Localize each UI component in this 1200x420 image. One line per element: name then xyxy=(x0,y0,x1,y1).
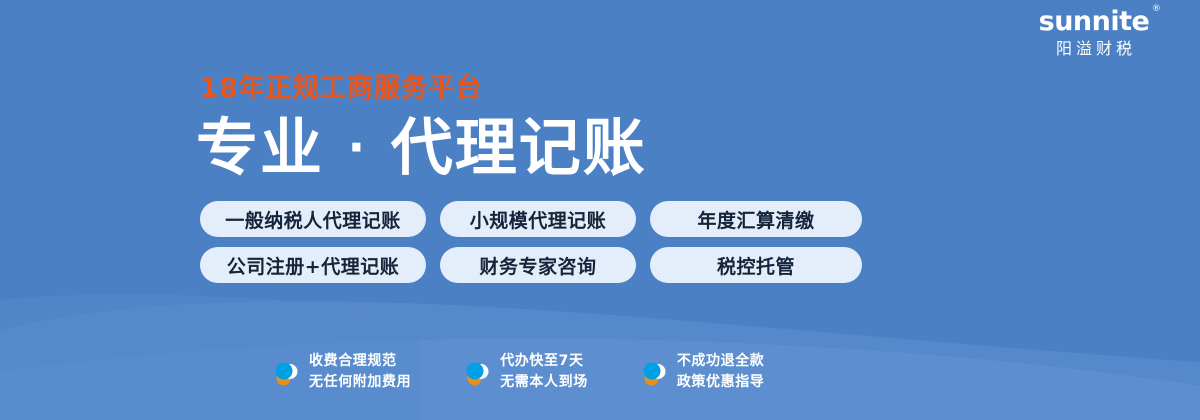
headline-prefix: 专业 xyxy=(196,111,324,184)
page-title: 专业 · 代理记账 xyxy=(196,112,647,183)
headline-suffix: 代理记账 xyxy=(391,111,647,184)
service-pill-small-scale-bookkeeping[interactable]: 小规模代理记账 xyxy=(440,201,636,237)
feature-item-pricing: 收费合理规范 无任何附加费用 xyxy=(272,351,411,393)
feature-text-guarantee: 不成功退全款 政策优惠指导 xyxy=(677,351,765,393)
moon-circle-icon xyxy=(640,357,668,387)
service-pill-row-1: 一般纳税人代理记账 小规模代理记账 年度汇算清缴 xyxy=(200,201,862,237)
feature-line-2: 无需本人到场 xyxy=(500,372,588,393)
feature-line-2: 政策优惠指导 xyxy=(677,372,765,393)
feature-line-2: 无任何附加费用 xyxy=(309,372,411,393)
hero-tagline: 18年正规工商服务平台 xyxy=(200,73,483,105)
service-pill-finance-expert-consulting[interactable]: 财务专家咨询 xyxy=(440,247,636,283)
service-pill-row-2: 公司注册+代理记账 财务专家咨询 税控托管 xyxy=(200,247,862,283)
logo-brand-text: sunnite xyxy=(1039,6,1150,37)
service-pill-annual-tax-settlement[interactable]: 年度汇算清缴 xyxy=(650,201,862,237)
headline-separator: · xyxy=(348,120,367,174)
feature-text-pricing: 收费合理规范 无任何附加费用 xyxy=(309,351,411,393)
service-pill-company-registration-bookkeeping[interactable]: 公司注册+代理记账 xyxy=(200,247,426,283)
feature-line-1: 不成功退全款 xyxy=(677,351,765,372)
registered-trademark-icon: ® xyxy=(1152,5,1161,14)
moon-circle-icon xyxy=(463,357,491,387)
moon-circle-icon xyxy=(272,357,300,387)
service-pill-tax-control-hosting[interactable]: 税控托管 xyxy=(650,247,862,283)
brand-logo[interactable]: sunnite ® 阳溢财税 xyxy=(1004,8,1184,60)
service-pill-group: 一般纳税人代理记账 小规模代理记账 年度汇算清缴 公司注册+代理记账 财务专家咨… xyxy=(200,201,862,293)
service-pill-general-taxpayer-bookkeeping[interactable]: 一般纳税人代理记账 xyxy=(200,201,426,237)
promo-banner: sunnite ® 阳溢财税 18年正规工商服务平台 专业 · 代理记账 一般纳… xyxy=(0,0,1200,420)
logo-chinese-name: 阳溢财税 xyxy=(1004,40,1184,59)
feature-item-guarantee: 不成功退全款 政策优惠指导 xyxy=(640,351,765,393)
feature-line-1: 收费合理规范 xyxy=(309,351,411,372)
logo-wordmark: sunnite ® xyxy=(1039,8,1150,36)
feature-text-speed: 代办快至7天 无需本人到场 xyxy=(500,351,588,393)
feature-line-1: 代办快至7天 xyxy=(500,351,588,372)
feature-item-speed: 代办快至7天 无需本人到场 xyxy=(463,351,588,393)
feature-list: 收费合理规范 无任何附加费用 代办快至7天 无需本人到场 xyxy=(272,351,764,393)
